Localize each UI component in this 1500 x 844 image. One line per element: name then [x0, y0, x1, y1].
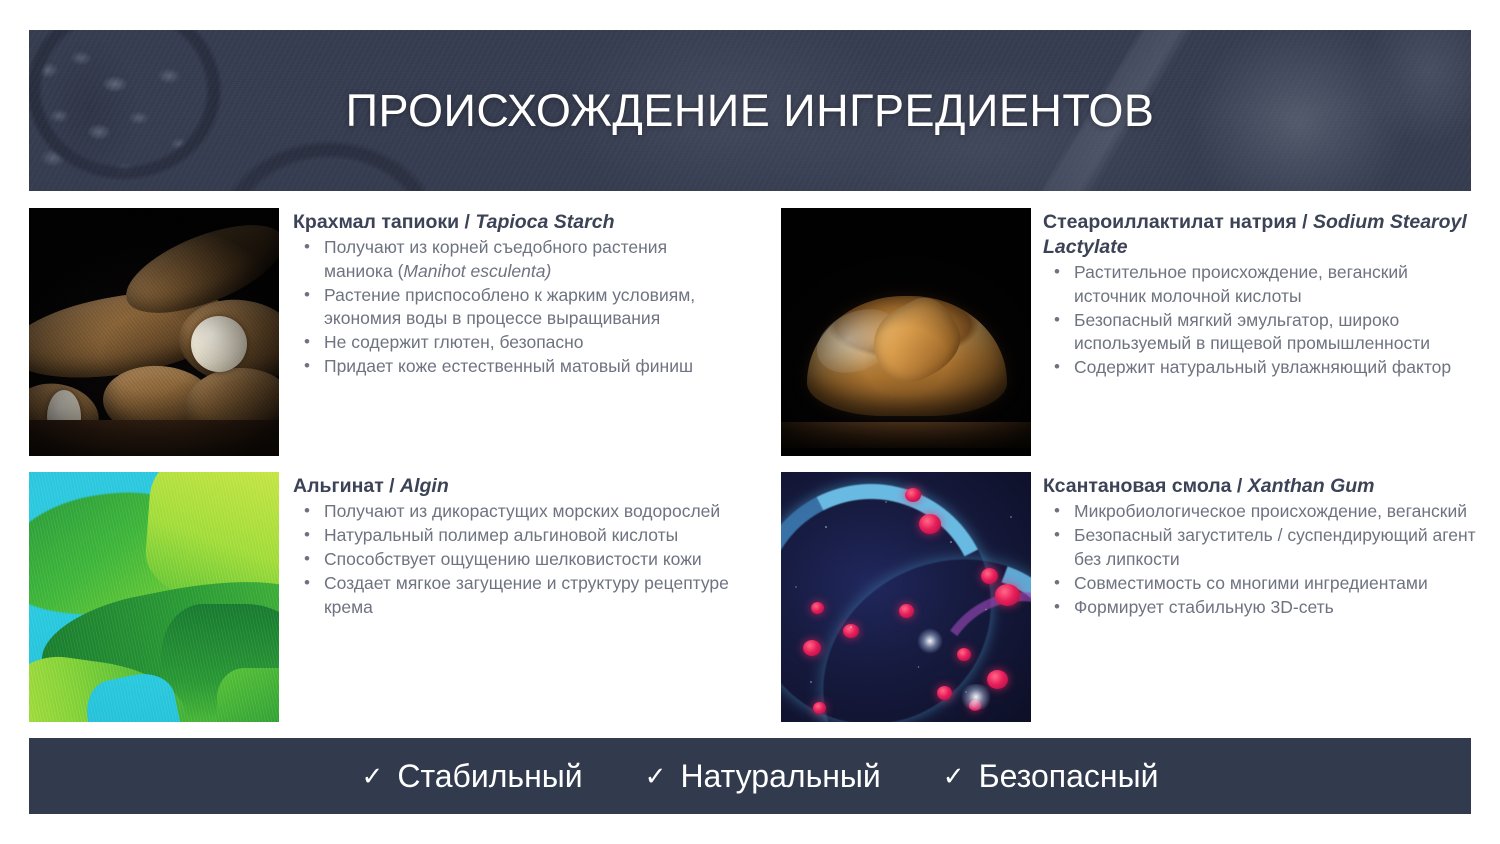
list-item: Способствует ощущению шелковистости кожи	[293, 548, 741, 572]
list-item: Содержит натуральный увлажняющий фактор	[1043, 356, 1479, 380]
card-bullet-list: Получают из дикорастущих морских водорос…	[293, 500, 741, 619]
list-item: Растение приспособлено к жарким условиям…	[293, 284, 733, 331]
card-title-ru: Стеароиллактилат натрия /	[1043, 211, 1313, 233]
cassava-roots-image	[29, 208, 279, 456]
list-item: Создает мягкое загущение и структуру рец…	[293, 572, 741, 619]
card-title-en: Algin	[400, 475, 449, 497]
footer-item-label: Натуральный	[680, 758, 880, 795]
check-icon: ✓	[362, 763, 384, 789]
footer-banner: ✓ Стабильный ✓ Натуральный ✓ Безопасный	[29, 738, 1471, 814]
seaweed-algae-image	[29, 472, 279, 722]
card-text-block: Стеароиллактилат натрия / Sodium Stearoy…	[1031, 208, 1479, 456]
card-text-block: Крахмал тапиоки / Tapioca Starch Получаю…	[279, 208, 733, 456]
slide: ПРОИСХОЖДЕНИЕ ИНГРЕДИЕНТОВ Крахмал тапио…	[0, 0, 1500, 844]
card-text-block: Альгинат / Algin Получают из дикорастущи…	[279, 472, 741, 722]
card-title: Ксантановая смола / Xanthan Gum	[1043, 474, 1483, 499]
list-item: Микробиологическое происхождение, веганс…	[1043, 500, 1483, 524]
card-title-en: Xanthan Gum	[1248, 475, 1375, 497]
list-item: Не содержит глютен, безопасно	[293, 331, 733, 355]
page-title: ПРОИСХОЖДЕНИЕ ИНГРЕДИЕНТОВ	[29, 30, 1471, 191]
card-title-ru: Ксантановая смола /	[1043, 475, 1248, 497]
list-item: Совместимость со многими ингредиентами	[1043, 572, 1483, 596]
ingredient-card-tapioca-starch: Крахмал тапиоки / Tapioca Starch Получаю…	[29, 208, 733, 456]
footer-item-natural: ✓ Натуральный	[645, 758, 881, 795]
list-item: Формирует стабильную 3D-сеть	[1043, 596, 1483, 620]
card-bullet-list: Получают из корней съедобного растения м…	[293, 236, 733, 379]
list-item: Растительное происхождение, веганский ис…	[1043, 261, 1479, 308]
list-item: Получают из корней съедобного растения м…	[293, 236, 733, 283]
card-title: Стеароиллактилат натрия / Sodium Stearoy…	[1043, 210, 1479, 260]
check-icon: ✓	[943, 763, 965, 789]
card-title-ru: Альгинат /	[293, 475, 400, 497]
list-item: Натуральный полимер альгиновой кислоты	[293, 524, 741, 548]
card-text-block: Ксантановая смола / Xanthan Gum Микробио…	[1031, 472, 1483, 722]
bread-loaf-image	[781, 208, 1031, 456]
card-title-ru: Крахмал тапиоки /	[293, 211, 475, 233]
footer-item-stable: ✓ Стабильный	[362, 758, 583, 795]
card-bullet-list: Растительное происхождение, веганский ис…	[1043, 261, 1479, 380]
ingredient-card-sodium-stearoyl-lactylate: Стеароиллактилат натрия / Sodium Stearoy…	[781, 208, 1479, 456]
card-bullet-list: Микробиологическое происхождение, веганс…	[1043, 500, 1483, 619]
card-title: Крахмал тапиоки / Tapioca Starch	[293, 210, 733, 235]
list-item: Безопасный мягкий эмульгатор, широко исп…	[1043, 309, 1479, 356]
footer-item-label: Стабильный	[397, 758, 582, 795]
ingredient-grid: Крахмал тапиоки / Tapioca Starch Получаю…	[29, 208, 1471, 722]
header-banner: ПРОИСХОЖДЕНИЕ ИНГРЕДИЕНТОВ	[29, 30, 1471, 191]
card-title: Альгинат / Algin	[293, 474, 741, 499]
footer-item-safe: ✓ Безопасный	[943, 758, 1159, 795]
card-title-en: Tapioca Starch	[475, 211, 614, 233]
footer-item-label: Безопасный	[979, 758, 1159, 795]
ingredient-card-xanthan-gum: Ксантановая смола / Xanthan Gum Микробио…	[781, 472, 1483, 722]
list-item: Придает коже естественный матовый финиш	[293, 355, 733, 379]
microbial-network-image	[781, 472, 1031, 722]
ingredient-card-algin: Альгинат / Algin Получают из дикорастущи…	[29, 472, 741, 722]
list-item: Безопасный загуститель / суспендирующий …	[1043, 524, 1483, 571]
list-item: Получают из дикорастущих морских водорос…	[293, 500, 741, 524]
check-icon: ✓	[645, 763, 667, 789]
